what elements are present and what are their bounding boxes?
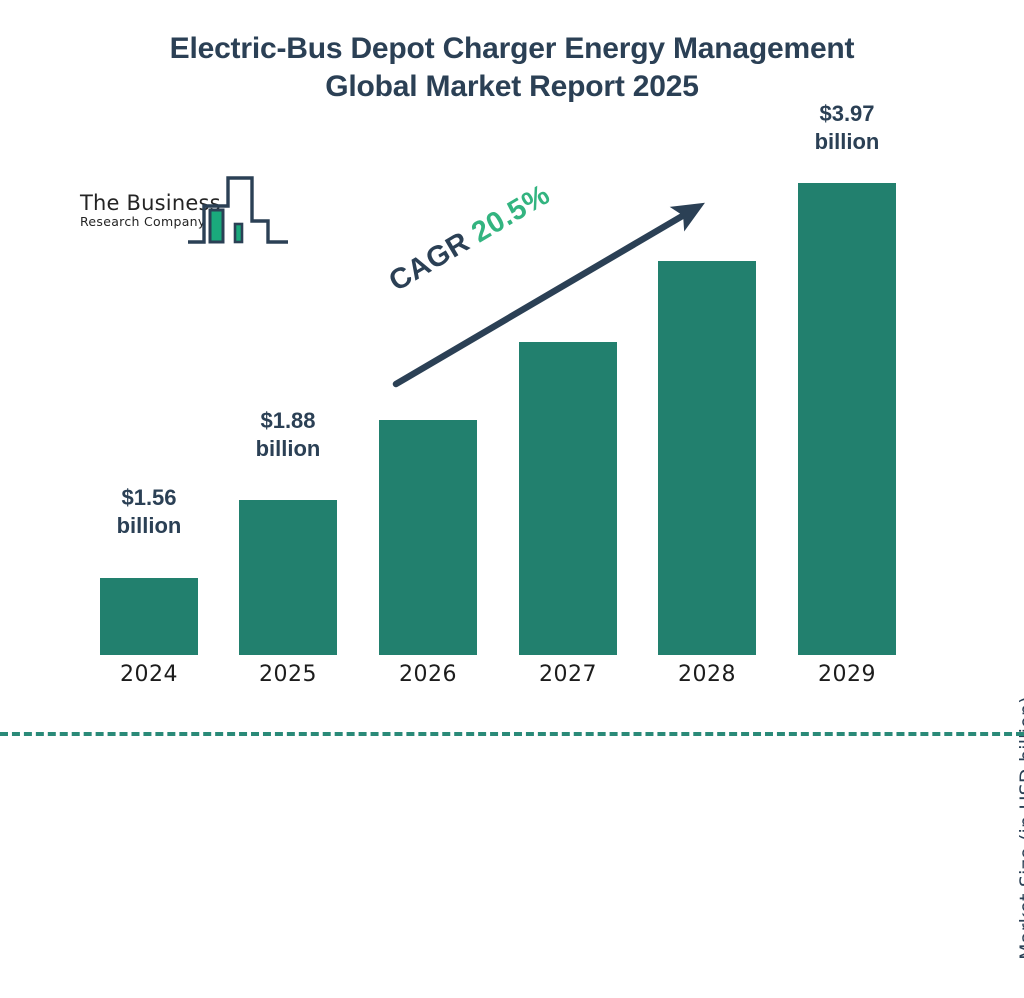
footer-divider xyxy=(0,732,1024,736)
x-tick-2025: 2025 xyxy=(238,662,338,687)
bar-2029 xyxy=(798,183,896,655)
y-axis-label: Market Size (in USD billion) xyxy=(1016,658,1024,998)
bar-value-2025: $1.88 billion xyxy=(218,407,358,463)
x-tick-2026: 2026 xyxy=(378,662,478,687)
bar-2026 xyxy=(379,420,477,655)
chart-canvas: Electric-Bus Depot Charger Energy Manage… xyxy=(0,0,1024,768)
bar-2027 xyxy=(519,342,617,655)
bar-chart-skyline-logo-mark xyxy=(188,172,288,250)
bar-2025 xyxy=(239,500,337,655)
bar-value-2024: $1.56 billion xyxy=(79,484,219,540)
cagr-value: 20.5% xyxy=(466,179,555,250)
x-tick-2029: 2029 xyxy=(797,662,897,687)
bar-value-2029: $3.97 billion xyxy=(777,100,917,156)
company-logo: The Business Research Company xyxy=(78,172,288,254)
cagr-annotation: CAGR 20.5% xyxy=(384,179,556,299)
x-tick-2027: 2027 xyxy=(518,662,618,687)
x-tick-2028: 2028 xyxy=(657,662,757,687)
bar-2028 xyxy=(658,261,756,655)
x-tick-2024: 2024 xyxy=(99,662,199,687)
cagr-label: CAGR xyxy=(384,226,476,298)
page-title: Electric-Bus Depot Charger Energy Manage… xyxy=(72,30,952,107)
bar-2024 xyxy=(100,578,198,655)
